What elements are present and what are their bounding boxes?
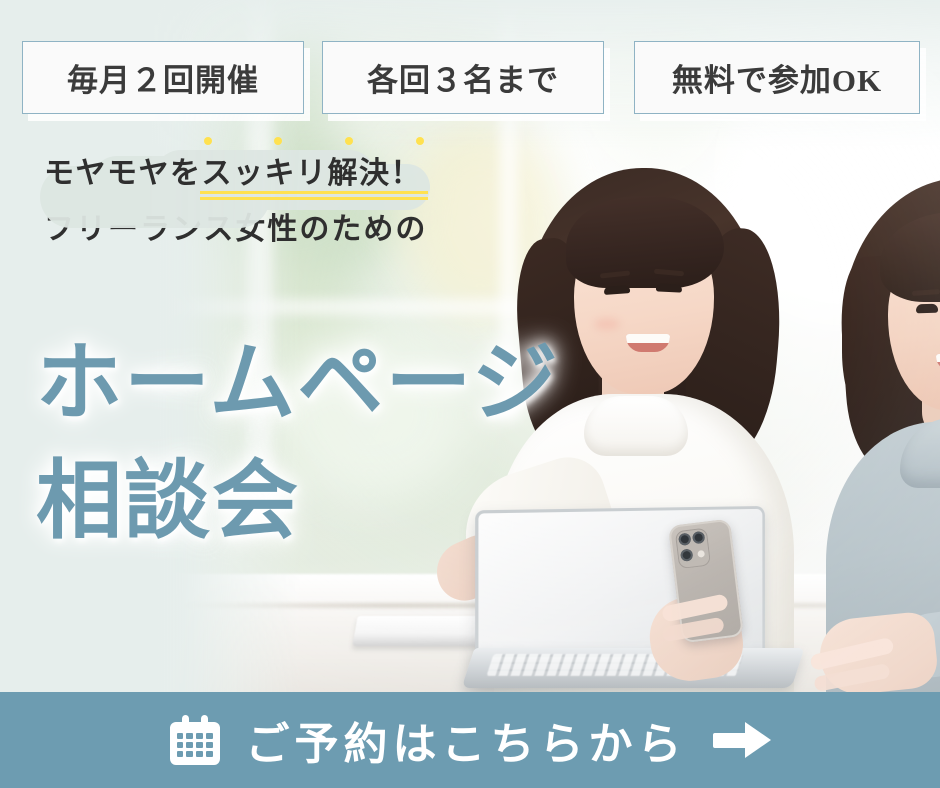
lead-copy-prefix: モヤモヤを [44,157,202,190]
promo-banner: 毎月２回開催 各回３名まで 無料で参加OK モヤモヤを スッキリ解決！ フリーラ… [0,0,940,788]
page-title: ホームページ 相談会 [36,324,656,560]
arrow-right-icon [713,722,771,758]
teeth [936,354,940,362]
lead-copy-line1-wrap: モヤモヤを スッキリ解決！ [0,150,560,198]
lead-copy-highlight: スッキリ解決！ [202,157,423,190]
bangs [566,196,724,288]
cta-label: ご予約はこちらから [246,708,687,772]
eye [656,283,682,292]
lead-copy-line1: モヤモヤを スッキリ解決！ [44,150,422,198]
feature-badge-free: 無料で参加OK [634,41,920,114]
page-title-line1: ホームページ [36,324,656,442]
page-title-line2: 相談会 [36,442,656,560]
camera-lens [678,533,691,546]
feature-badge-row: 毎月２回開催 各回３名まで 無料で参加OK [0,41,940,113]
emphasis-dots [204,137,425,145]
feature-badge-frequency: 毎月２回開催 [22,41,304,114]
highlight-underline [200,191,429,200]
feature-badge-label: 無料で参加OK [672,55,882,100]
feature-badge-capacity: 各回３名まで [322,41,604,114]
lead-copy-highlight-wrap: スッキリ解決！ [202,150,423,198]
feature-badge-label: 毎月２回開催 [67,55,259,100]
eye [916,304,938,314]
camera-lens [680,548,693,561]
person-right [770,178,940,694]
camera-flash [697,550,705,558]
lead-copy: モヤモヤを スッキリ解決！ フリーランス女性のための [0,150,560,248]
camera-lens [692,531,705,544]
feature-badge-label: 各回３名まで [367,55,559,100]
calendar-icon [170,715,220,765]
camera-module [675,528,711,570]
reservation-cta-button[interactable]: ご予約はこちらから [0,692,940,788]
